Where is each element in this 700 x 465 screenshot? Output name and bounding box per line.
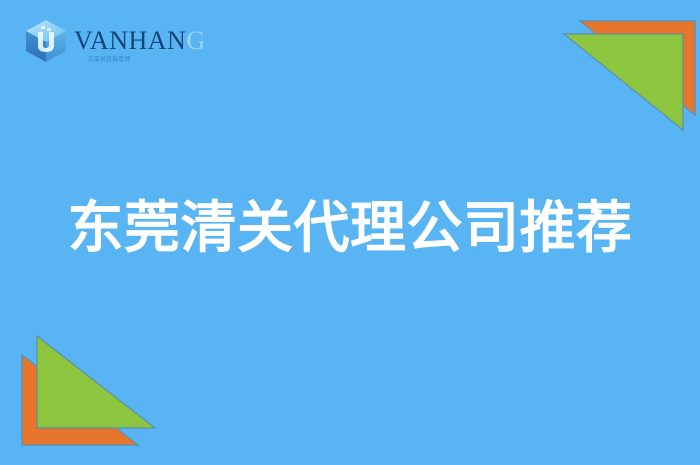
bottom-left-green-triangle (37, 336, 155, 428)
brand-wordmark-main: VANHAN (74, 26, 186, 55)
brand-wordmark: VANHANG (74, 28, 206, 54)
poster-canvas: VANHANG 万享供应链管理 东莞清关代理公司推荐 (0, 0, 700, 465)
top-right-triangle-pair (540, 0, 700, 140)
bottom-left-triangle-pair (0, 325, 170, 465)
top-right-green-triangle (564, 34, 683, 130)
brand-logo: VANHANG 万享供应链管理 (24, 16, 206, 66)
brand-subtitle-cn: 万享供应链管理 (88, 58, 131, 64)
brand-wordmark-group: VANHANG 万享供应链管理 (74, 21, 206, 61)
vanhang-cube-logo-icon (24, 18, 68, 64)
page-title: 东莞清关代理公司推荐 (0, 198, 700, 261)
brand-wordmark-accent: G (186, 26, 205, 55)
